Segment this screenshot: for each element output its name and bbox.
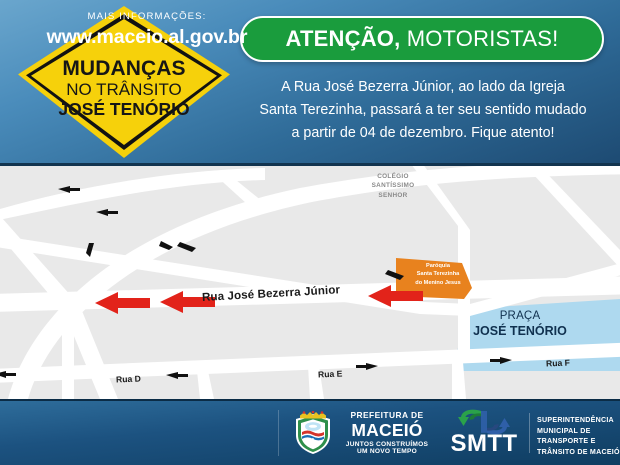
- smtt-line-2: MUNICIPAL DE: [537, 426, 620, 437]
- label-rua-d: Rua D: [116, 373, 141, 384]
- lead-line-3: a partir de 04 de dezembro. Fique atento…: [236, 122, 610, 145]
- map-area: [0, 166, 620, 399]
- smtt-line-1: SUPERINTENDÊNCIA: [537, 415, 620, 426]
- website-url[interactable]: www.maceio.al.gov.br: [28, 26, 266, 49]
- footer-info-block: MAIS INFORMAÇÕES: www.maceio.al.gov.br: [28, 11, 266, 49]
- praca-line-2: JOSÉ TENÓRIO: [472, 324, 568, 339]
- lead-line-1: A Rua José Bezerra Júnior, ao lado da Ig…: [236, 76, 610, 99]
- prefeitura-maceio-logo: PREFEITURA DE MACEIÓ JUNTOS CONSTRUÍMOS …: [292, 409, 437, 457]
- lead-paragraph: A Rua José Bezerra Júnior, ao lado da Ig…: [236, 76, 610, 145]
- attention-banner-text: ATENÇÃO, MOTORISTAS!: [286, 26, 559, 52]
- sign-text-block: MUDANÇAS NO TRÂNSITO JOSÉ TENÓRIO: [18, 58, 230, 119]
- praca-line-1: PRAÇA: [472, 310, 568, 324]
- smtt-logo: SMTT: [444, 408, 524, 458]
- parish-line-2: Santa Terezinha: [398, 270, 478, 278]
- label-rua-f: Rua F: [546, 357, 570, 368]
- smtt-full-name: SUPERINTENDÊNCIA MUNICIPAL DE TRANSPORTE…: [537, 415, 620, 458]
- attention-banner: ATENÇÃO, MOTORISTAS!: [240, 16, 604, 62]
- parish-line-1: Paróquia: [398, 262, 478, 270]
- footer-divider-left: [278, 410, 279, 456]
- parish-line-3: do Menino Jesus: [398, 279, 478, 287]
- label-praca-jose-tenorio: PRAÇA JOSÉ TENÓRIO: [472, 310, 568, 338]
- banner-bold-text: ATENÇÃO,: [286, 26, 401, 51]
- prefeitura-text-block: PREFEITURA DE MACEIÓ JUNTOS CONSTRUÍMOS …: [338, 410, 436, 455]
- map-graphic: [0, 166, 620, 399]
- sign-line-3: JOSÉ TENÓRIO: [18, 101, 230, 119]
- sign-line-1: MUDANÇAS: [18, 58, 230, 79]
- prefeitura-line-2: MACEIÓ: [338, 421, 436, 439]
- footer-divider-right: [529, 413, 530, 453]
- sign-line-2: NO TRÂNSITO: [18, 81, 230, 98]
- road-right-vertical: [458, 304, 470, 362]
- poster-root: MUDANÇAS NO TRÂNSITO JOSÉ TENÓRIO ATENÇÃ…: [0, 0, 620, 465]
- label-colegio-santissimo-senhor: COLÉGIO SANTÍSSIMO SENHOR: [356, 172, 430, 200]
- smtt-line-4: TRÂNSITO DE MACEIÓ: [537, 447, 620, 458]
- smtt-wordmark: SMTT: [444, 432, 524, 456]
- banner-light-text: MOTORISTAS!: [400, 26, 558, 51]
- road-left-vertical: [62, 306, 74, 399]
- colegio-line-2: SANTÍSSIMO: [356, 181, 430, 190]
- brasao-maceio-icon: [292, 411, 334, 455]
- colegio-line-1: COLÉGIO: [356, 172, 430, 181]
- prefeitura-line-1: PREFEITURA DE: [338, 410, 436, 420]
- label-rua-e: Rua E: [318, 368, 343, 379]
- more-info-label: MAIS INFORMAÇÕES:: [28, 11, 266, 22]
- prefeitura-line-4: UM NOVO TEMPO: [338, 448, 436, 455]
- smtt-line-3: TRANSPORTE E: [537, 436, 620, 447]
- label-paroquia-santa-terezinha: Paróquia Santa Terezinha do Menino Jesus: [398, 262, 478, 287]
- colegio-line-3: SENHOR: [356, 191, 430, 200]
- prefeitura-line-3: JUNTOS CONSTRUÍMOS: [338, 441, 436, 448]
- lead-line-2: Santa Terezinha, passará a ter seu senti…: [236, 99, 610, 122]
